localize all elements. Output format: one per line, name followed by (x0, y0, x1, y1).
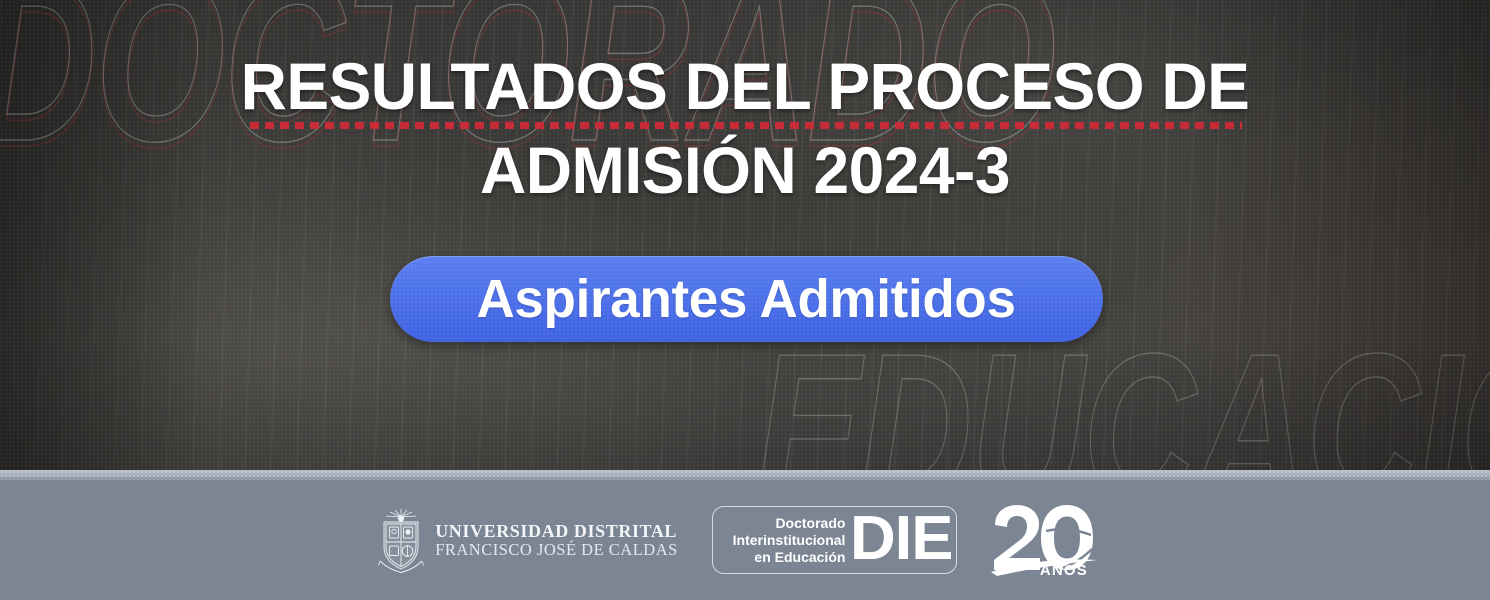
university-name-line-2: FRANCISCO JOSÉ DE CALDAS (435, 541, 678, 558)
svg-text:AÑOS: AÑOS (1040, 561, 1088, 578)
logo-group: UNIVERSIDAD DISTRITAL FRANCISCO JOSÉ DE … (377, 480, 1113, 600)
die-subtitle-line-2: Interinstitucional (733, 532, 846, 549)
aspirantes-admitidos-button-label: Aspirantes Admitidos (477, 268, 1016, 330)
anniversary-20-anos-logo: AÑOS (987, 502, 1113, 578)
anniversary-icon: AÑOS (987, 502, 1113, 578)
admission-results-banner: DOCTORADO DOCTORADO EDUCACIÓN RESULTADOS… (0, 0, 1490, 600)
universidad-distrital-text: UNIVERSIDAD DISTRITAL FRANCISCO JOSÉ DE … (435, 522, 678, 559)
university-name-line-1: UNIVERSIDAD DISTRITAL (435, 522, 678, 541)
title-line-1: RESULTADOS DEL PROCESO DE (22, 44, 1467, 128)
die-logo: Doctorado Interinstitucional en Educació… (712, 506, 957, 574)
footer-logo-bar: UNIVERSIDAD DISTRITAL FRANCISCO JOSÉ DE … (0, 480, 1490, 600)
aspirantes-admitidos-button[interactable]: Aspirantes Admitidos (390, 256, 1103, 342)
die-subtitle-line-1: Doctorado (733, 515, 846, 532)
university-crest-icon (377, 507, 425, 573)
die-acronym: DIE (850, 508, 952, 570)
aspirantes-admitidos-button-wrap: Aspirantes Admitidos (390, 256, 1103, 342)
footer-top-edge (0, 470, 1490, 480)
red-dashed-divider (250, 122, 1242, 129)
die-subtitle: Doctorado Interinstitucional en Educació… (733, 515, 852, 566)
title-line-2: ADMISIÓN 2024-3 (22, 128, 1467, 212)
die-subtitle-line-3: en Educación (733, 549, 846, 566)
universidad-distrital-logo: UNIVERSIDAD DISTRITAL FRANCISCO JOSÉ DE … (377, 507, 678, 573)
